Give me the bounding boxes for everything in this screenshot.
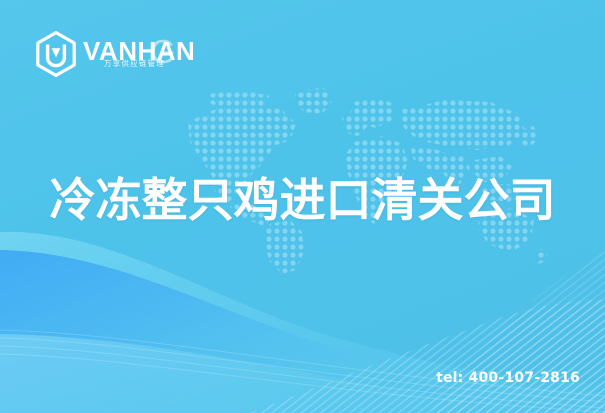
hexagon-u-mark-icon [33, 31, 79, 77]
company-logo[interactable]: VANHAN G 万享供应链管理 [33, 31, 83, 77]
contact-phone: tel: 400-107-2816 [436, 371, 580, 385]
logo-subtitle: 万享供应链管理 [104, 60, 165, 68]
promo-banner: VANHAN G 万享供应链管理 冷冻整只鸡进口清关公司 tel: 400-10… [0, 0, 605, 413]
page-title: 冷冻整只鸡进口清关公司 [0, 176, 605, 226]
